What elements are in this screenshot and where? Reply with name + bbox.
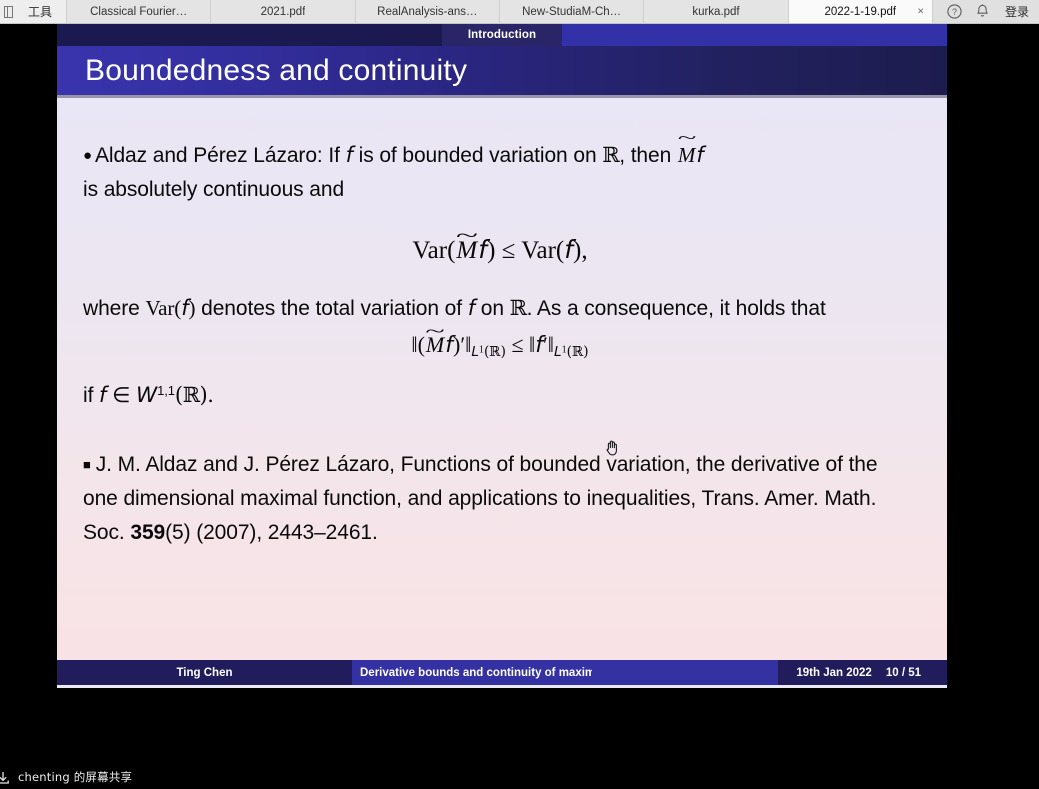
footer-spacer [592, 660, 778, 685]
tab-label: New-StudiaM-Ch… [522, 6, 621, 18]
para2-var-op: Var [145, 296, 174, 320]
tab-strip: Classical Fourier… 2021.pdf RealAnalysis… [66, 0, 933, 23]
eq2-var-f: f [445, 333, 453, 358]
eq2-sub-R: (ℝ) [484, 344, 506, 360]
para1-text-d: is absolutely continuous and [83, 178, 344, 201]
footer-date: 19th Jan 2022 [778, 660, 885, 685]
para3-domain-R: (ℝ). [175, 383, 214, 407]
para2-var-f: f [181, 296, 188, 320]
para2-text-a: where [83, 297, 145, 320]
footer-author: Ting Chen [57, 660, 352, 685]
para3-space-W: W [136, 383, 157, 408]
eq1-rhs-f: f [564, 235, 573, 264]
eq1-open-paren: ( [447, 237, 455, 264]
tab-label: Classical Fourier… [90, 6, 187, 18]
tab-label: 2021.pdf [261, 6, 306, 18]
eq1-close-paren: ) [487, 237, 495, 264]
para2-var-f2: f [468, 296, 475, 320]
pdf-slide[interactable]: Introduction Boundedness and continuity … [57, 24, 947, 688]
footer-page-number: 10 / 51 [886, 660, 947, 685]
slide-section-nav: Introduction [57, 24, 947, 46]
para1-var-f2: f [696, 143, 703, 167]
bell-icon[interactable] [976, 4, 989, 19]
eq2-prime-close: )′‖ [453, 332, 471, 357]
eq2-relation: ≤ [511, 332, 523, 357]
tab-label: 2022-1-19.pdf [825, 6, 897, 18]
para2-text-d: . As a consequence, it holds that [527, 297, 826, 320]
para2-text-b: denotes the total variation of [195, 297, 467, 320]
eq1-rhs-var-op: Var [521, 237, 556, 264]
bullet-square-icon: ■ [83, 457, 96, 472]
browser-tab-bar: 工具 Classical Fourier… 2021.pdf RealAnaly… [0, 0, 1039, 24]
tab-bar-left-group: 工具 [0, 0, 66, 23]
eq2-sub-L: L [471, 344, 479, 360]
close-icon[interactable]: × [918, 6, 924, 17]
tilde-accent: ~ [677, 129, 695, 146]
browser-tab-new-studiam-ch[interactable]: New-StudiaM-Ch… [499, 0, 643, 23]
slide-body: ●Aldaz and Pérez Lázaro: If f is of boun… [57, 98, 947, 685]
reference-volume: 359 [130, 521, 165, 544]
para2-text-c: on [475, 297, 510, 320]
browser-tab-2022-1-19-pdf[interactable]: 2022-1-19.pdf × [788, 0, 933, 23]
eq2-rhs-sub-R: (ℝ) [567, 344, 589, 360]
eq1-var-op: Var [412, 237, 447, 264]
nav-remainder [562, 24, 947, 46]
screen-share-label: chenting 的屏幕共享 [18, 769, 132, 785]
para1-blackboard-R: ℝ [602, 143, 619, 167]
eq1-relation: ≤ [502, 237, 516, 264]
eq1-var-f: f [478, 235, 487, 264]
browser-tab-classical-fourier[interactable]: Classical Fourier… [66, 0, 210, 23]
tab-label: kurka.pdf [692, 6, 739, 18]
display-equation-2: ‖(~Mf)′‖L1(ℝ) ≤ ‖f′‖L1(ℝ) [83, 332, 917, 360]
tab-label: RealAnalysis-ans… [377, 6, 477, 18]
para1-text-b: is of bounded variation on [353, 144, 602, 167]
tools-menu-button[interactable]: 工具 [14, 0, 66, 23]
nav-item-label: Introduction [468, 29, 536, 41]
eq1-script-m: ~M [455, 237, 478, 265]
para1-script-m: ~M [677, 138, 696, 172]
para1-text-a: Aldaz and Pérez Lázaro: If [95, 144, 346, 167]
para1-var-f: f [346, 143, 353, 167]
login-button[interactable]: 登录 [1003, 3, 1029, 20]
svg-text:?: ? [952, 7, 957, 17]
help-circle-icon[interactable]: ? [947, 4, 962, 19]
reference-text-tail: (5) (2007), 2443–2461. [165, 521, 378, 544]
browser-tab-kurka-pdf[interactable]: kurka.pdf [643, 0, 787, 23]
sidebar-toggle-icon[interactable] [2, 0, 14, 23]
eq2-rhs-f: f [535, 333, 543, 358]
eq2-script-m: ~M [425, 332, 445, 358]
nav-item-introduction[interactable]: Introduction [442, 24, 562, 46]
slide-footer: Ting Chen Derivative bounds and continui… [57, 660, 947, 685]
paragraph-3: if f ∈ W1,1(ℝ). [83, 378, 917, 414]
para3-membership: ∈ [106, 384, 136, 407]
footer-presentation-title: Derivative bounds and continuity of maxi… [352, 660, 592, 685]
browser-tab-realanalysis-ans[interactable]: RealAnalysis-ans… [355, 0, 499, 23]
display-equation-1: Var(~Mf) ≤ Var(f), [83, 235, 917, 265]
bullet-dot-icon: ● [83, 147, 95, 164]
tilde-accent: ~ [456, 226, 478, 247]
eq2-norm-open: ‖( [411, 332, 425, 357]
bullet-paragraph-1: ●Aldaz and Pérez Lázaro: If f is of boun… [83, 138, 917, 207]
para3-text-a: if [83, 384, 99, 407]
reference-paragraph: ■J. M. Aldaz and J. Pérez Lázaro, Functi… [83, 448, 917, 550]
eq1-rhs-close: ), [573, 237, 588, 264]
screen-share-icon [0, 769, 12, 785]
para1-text-c: , then [619, 144, 677, 167]
tab-bar-right-group: ? 登录 [933, 0, 1039, 23]
para3-exponent: 1,1 [157, 383, 175, 398]
eq1-rhs-open: ( [556, 237, 564, 264]
eq2-rhs-sub-L: L [554, 344, 562, 360]
slide-title: Boundedness and continuity [85, 54, 467, 88]
screen-share-bar: chenting 的屏幕共享 [0, 765, 1039, 789]
slide-title-bar: Boundedness and continuity [57, 46, 947, 98]
para2-blackboard-R: ℝ [510, 296, 527, 320]
browser-tab-2021-pdf[interactable]: 2021.pdf [210, 0, 354, 23]
tilde-accent: ~ [425, 322, 445, 340]
paragraph-2: where Var(f) denotes the total variation… [83, 291, 917, 326]
